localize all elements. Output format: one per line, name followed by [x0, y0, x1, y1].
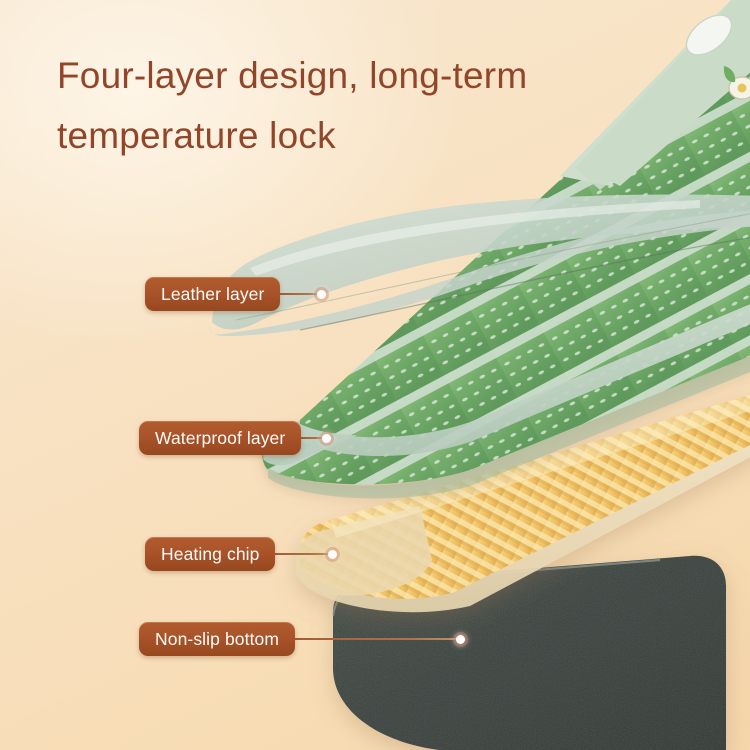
badge-non-slip-bottom[interactable]: Non-slip bottom	[139, 622, 295, 656]
leader-line-non-slip-bottom	[295, 638, 457, 640]
leader-line-heating-chip	[275, 553, 329, 555]
leather-layer-flap	[209, 194, 750, 336]
callout-leather-layer[interactable]: Leather layer	[145, 277, 326, 311]
anchor-dot-waterproof-layer	[322, 434, 331, 443]
leader-line-waterproof-layer	[301, 437, 323, 439]
callout-non-slip-bottom[interactable]: Non-slip bottom	[139, 622, 465, 656]
leader-line-leather-layer	[280, 293, 318, 295]
anchor-dot-non-slip-bottom	[456, 635, 465, 644]
heating-chip-layer	[296, 392, 750, 612]
badge-heating-chip[interactable]: Heating chip	[145, 537, 275, 571]
product-infographic: Four-layer design, long-term temperature…	[0, 0, 750, 750]
page-title: Four-layer design, long-term temperature…	[57, 46, 617, 166]
oval-tag-icon	[679, 7, 738, 63]
badge-waterproof-layer[interactable]: Waterproof layer	[139, 421, 301, 455]
callout-heating-chip[interactable]: Heating chip	[145, 537, 337, 571]
flower-motif-icon	[724, 66, 750, 99]
waterproof-layer	[262, 236, 750, 498]
anchor-dot-leather-layer	[317, 290, 326, 299]
anchor-dot-heating-chip	[328, 550, 337, 559]
badge-leather-layer[interactable]: Leather layer	[145, 277, 280, 311]
callout-waterproof-layer[interactable]: Waterproof layer	[139, 421, 331, 455]
